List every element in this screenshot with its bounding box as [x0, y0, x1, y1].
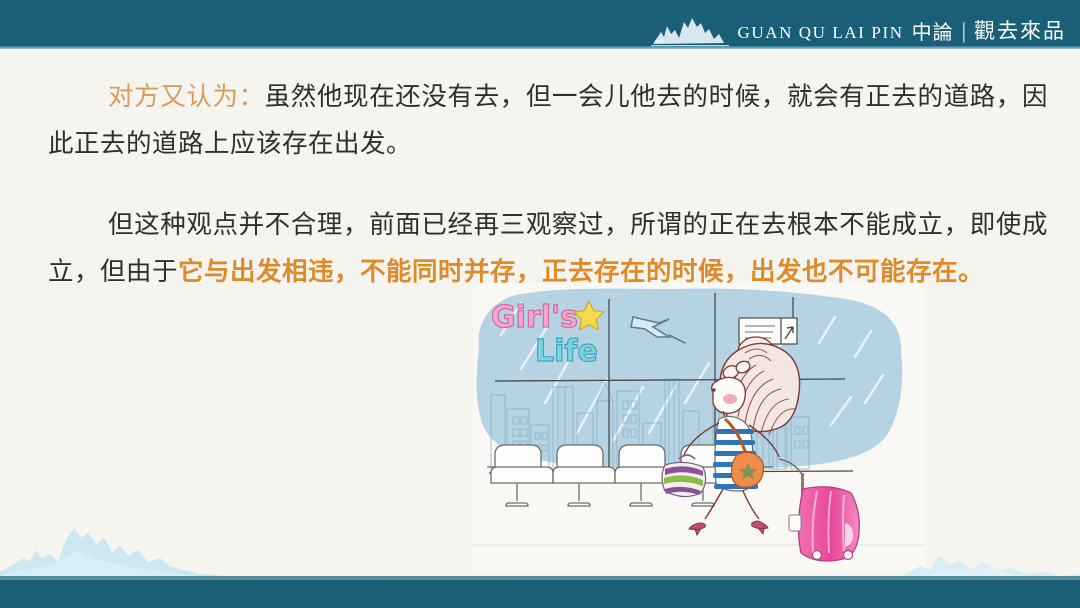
title-word-life: Life [535, 334, 598, 369]
paragraph-two: 但这种观点并不合理，前面已经再三观察过，所谓的正在去根本不能成立，即使成立，但由… [48, 202, 1048, 296]
mountain-silhouette-left [0, 510, 260, 580]
eye [712, 388, 715, 391]
brand-separator: | [962, 20, 966, 48]
mountain-peaks-icon [651, 14, 729, 48]
brand-cn-subtitle: 觀去來品 [974, 21, 1066, 48]
girl-at-airport-illustration: Girl's Life [473, 283, 925, 571]
cheek-blush [723, 394, 737, 404]
title-word-girls: Girl's [491, 300, 578, 335]
brand-cn-name: 中論 [912, 22, 954, 48]
brand-logo: GUAN QU LAI PIN 中論 | 觀去來品 [651, 2, 1066, 48]
paragraph-one-highlight: 对方又认为： [108, 82, 265, 112]
brand-latin-name: GUAN QU LAI PIN [737, 24, 903, 48]
slide-body-text: 对方又认为：虽然他现在还没有去，但一会儿他去的时候，就会有正去的道路，因此正去的… [48, 74, 1048, 314]
illustration-svg: Girl's Life [473, 283, 925, 571]
footer-bar [0, 580, 1080, 608]
header-bar: GUAN QU LAI PIN 中論 | 觀去來品 [0, 0, 1080, 49]
paragraph-one: 对方又认为：虽然他现在还没有去，但一会儿他去的时候，就会有正去的道路，因此正去的… [48, 74, 1048, 168]
mountain-silhouette-right [860, 522, 1080, 580]
slide-canvas: GUAN QU LAI PIN 中論 | 觀去來品 对方又认为：虽然他现在还没有… [0, 0, 1080, 608]
